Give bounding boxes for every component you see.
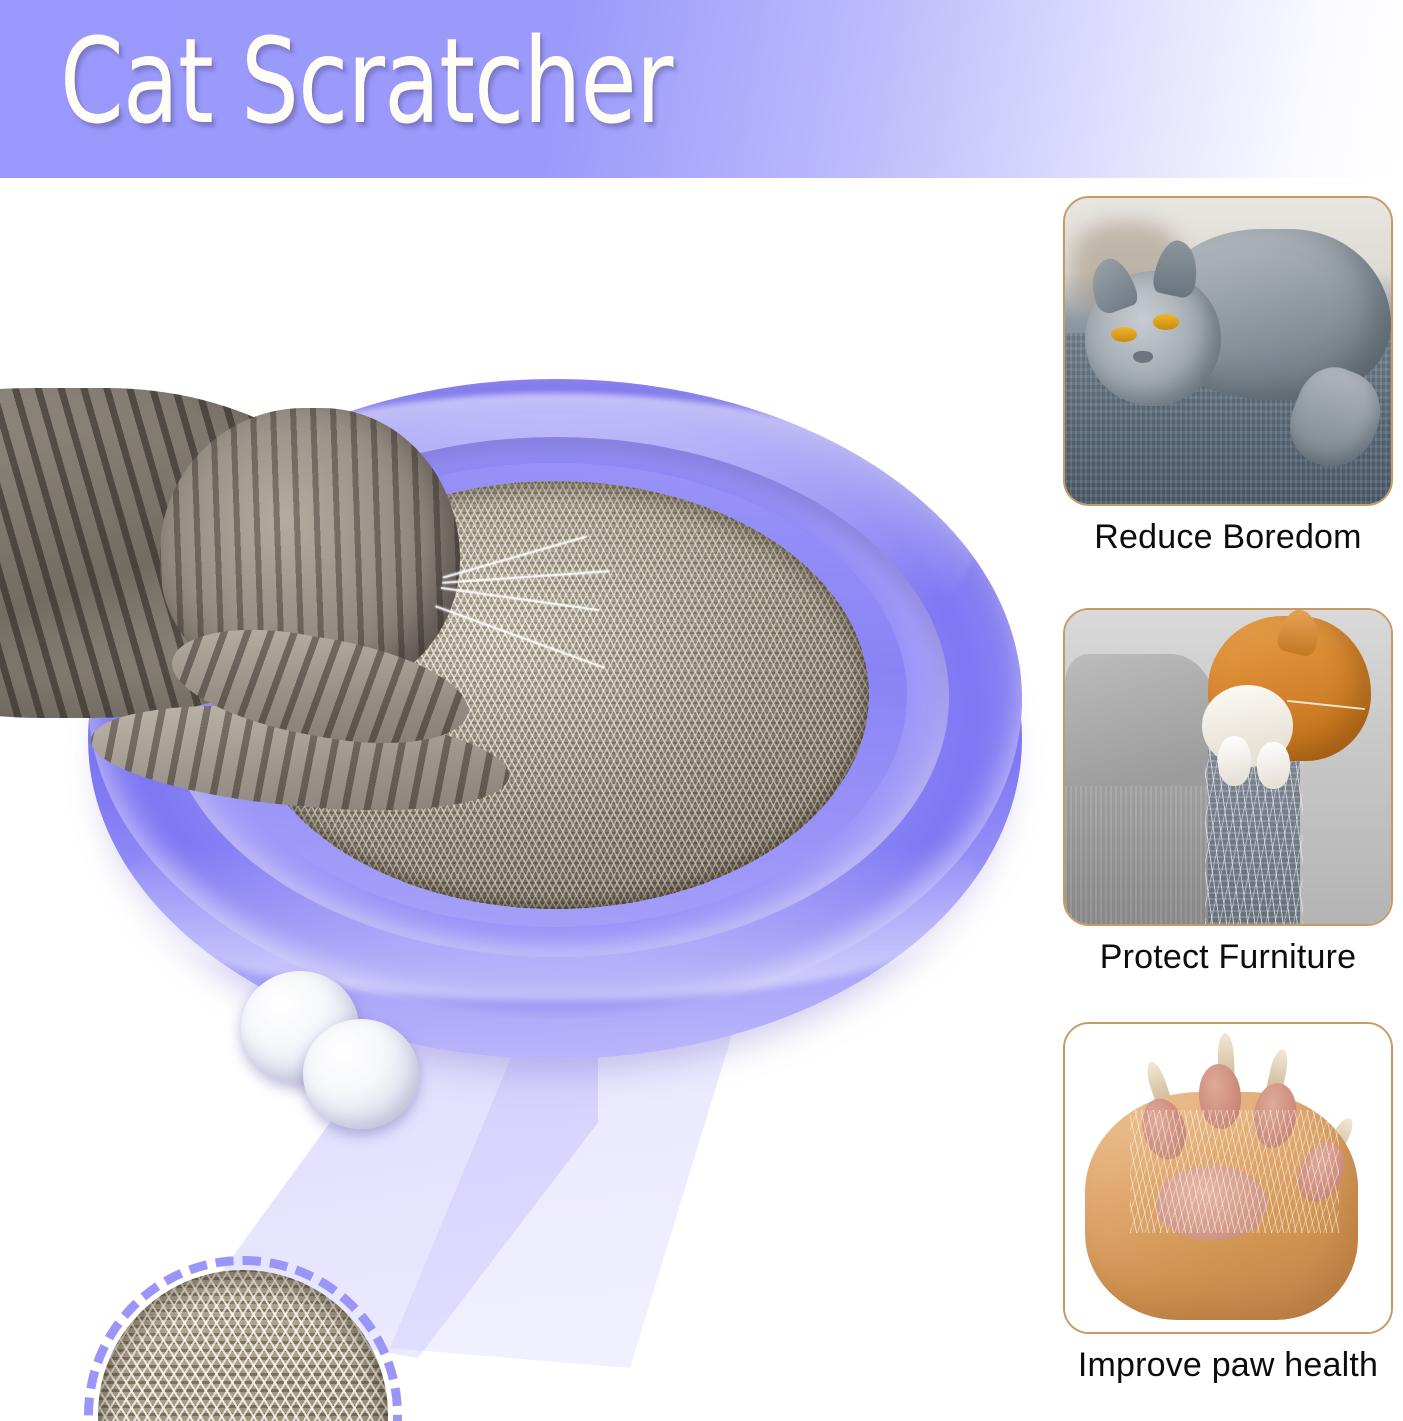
benefit-card-protect-furniture[interactable]: Protect Furniture (1063, 608, 1393, 977)
cat-whisker (435, 605, 605, 668)
cat-whisker (443, 535, 588, 578)
orange-cat-paw-right (1257, 742, 1290, 789)
cat-whisker (441, 587, 600, 611)
benefit-cards: Reduce Boredom Protect Furniture (1063, 196, 1393, 1396)
benefit-card-frame (1063, 608, 1393, 926)
benefit-card-frame (1063, 1022, 1393, 1334)
main-product-stage (0, 178, 1050, 1421)
cardboard-detail-callout (84, 1256, 402, 1421)
paw-fur-tufts (1130, 1110, 1339, 1233)
benefit-card-reduce-boredom[interactable]: Reduce Boredom (1063, 196, 1393, 557)
benefit-card-label: Improve paw health (1063, 1346, 1393, 1385)
benefit-card-label: Protect Furniture (1063, 938, 1393, 977)
benefit-card-improve-paw-health[interactable]: Improve paw health (1063, 1022, 1393, 1385)
tabby-cat (0, 238, 700, 838)
orange-cat-paw-left (1218, 736, 1251, 786)
header-banner: Cat Scratcher (0, 0, 1403, 178)
benefit-card-frame (1063, 196, 1393, 506)
page-title: Cat Scratcher (60, 22, 672, 140)
orange-cat-sofa-photo (1065, 610, 1391, 924)
grey-cat-eye-left (1111, 327, 1137, 342)
grey-cat-photo (1065, 198, 1391, 504)
benefit-card-label: Reduce Boredom (1063, 518, 1393, 557)
cat-paw-photo (1065, 1024, 1391, 1332)
dashed-circle-outline (84, 1256, 402, 1421)
play-ball-2 (303, 1019, 419, 1129)
product-listing-image: Cat Scratcher (0, 0, 1403, 1421)
grey-cat-eye-right (1153, 314, 1179, 329)
cat-whisker (442, 570, 610, 584)
